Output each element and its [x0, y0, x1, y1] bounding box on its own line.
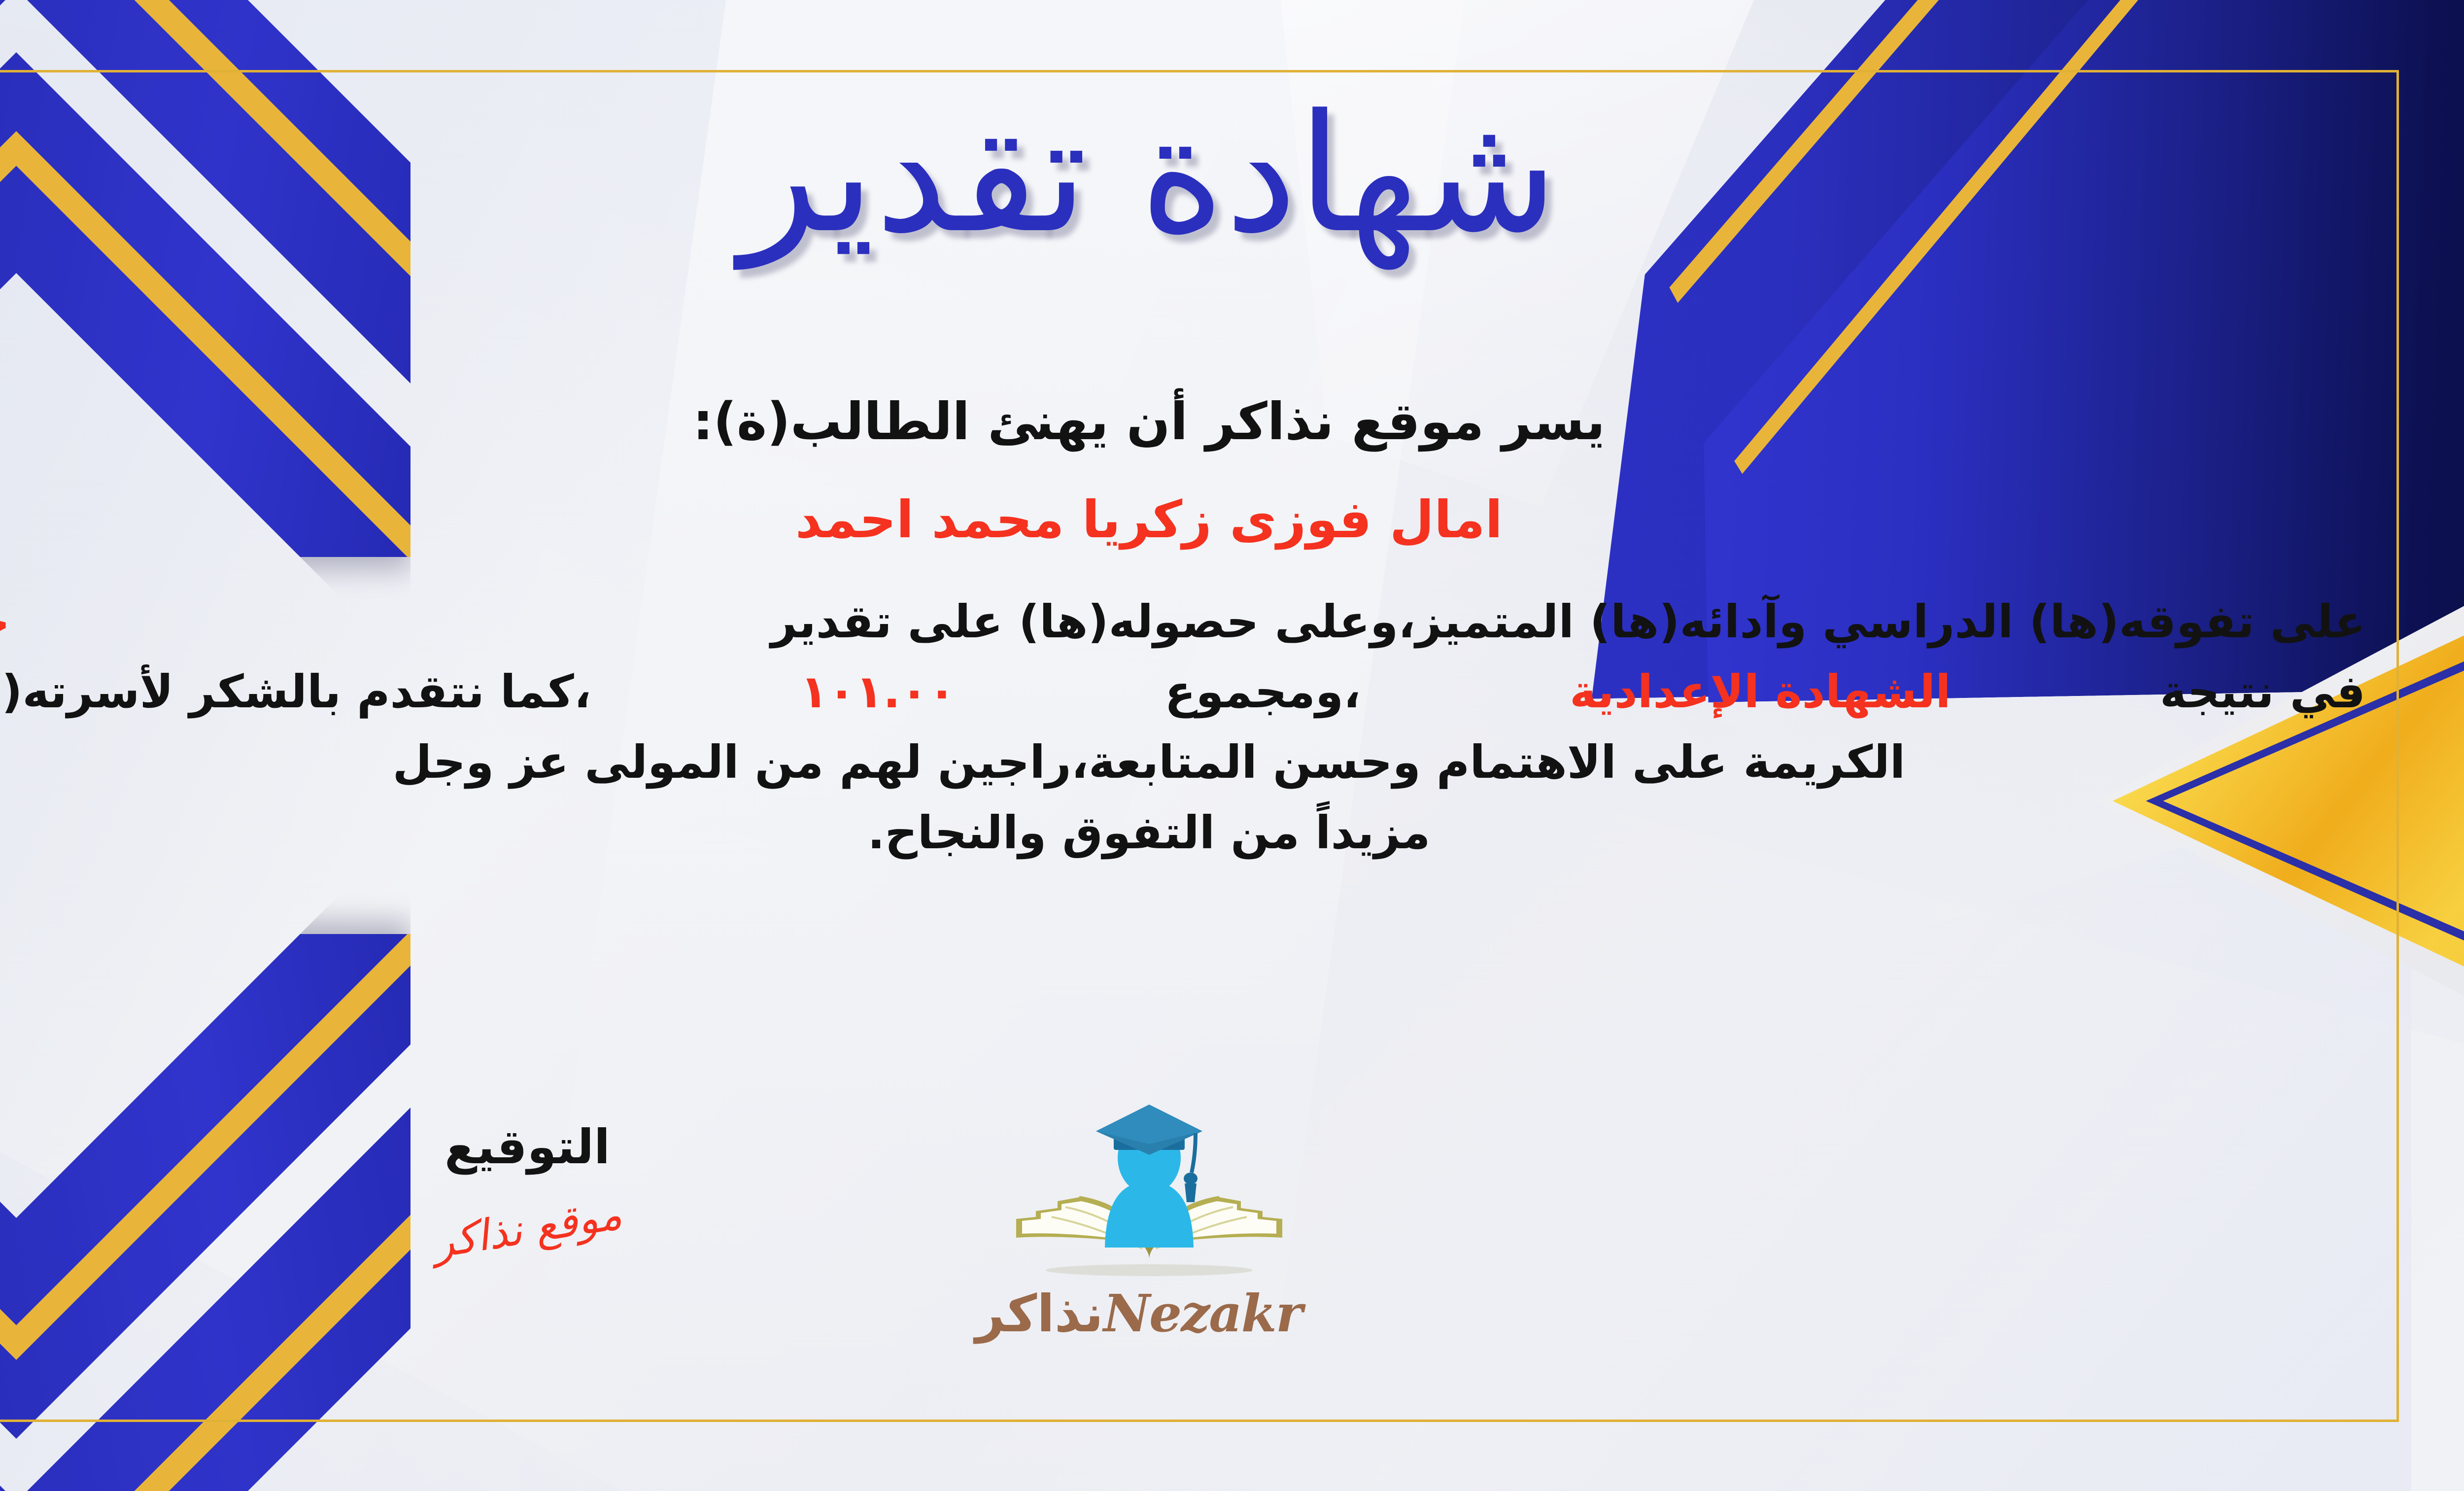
thanks-text: ،كما نتقدم بالشكر لأسرته(ها): [0, 657, 591, 728]
achievement-text: على تفوقه(ها) الدراسي وآدائه(ها) المتميز…: [771, 587, 2365, 658]
graduate-open-book-icon: [996, 1097, 1302, 1294]
brand-logo: Nezakrنذاكر: [996, 1097, 1302, 1339]
result-prefix: في نتيجة: [2160, 657, 2365, 728]
certificate-footer: التوقيع موقع نذاكر: [0, 1092, 2395, 1397]
congratulation-lead-text: يسر موقع نذاكر أن يهنئ الطالب(ة):: [0, 389, 2365, 453]
grade-value: جيد: [0, 587, 10, 658]
paragraph-line-2: في نتيجة الشهادة الإعدادية ،ومجموع ١٠١.٠…: [0, 657, 2365, 728]
certificate-page: شهادة تقدير يسر موقع نذاكر أن يهنئ الطال…: [0, 0, 2464, 1491]
exam-name: الشهادة الإعدادية: [1570, 657, 1951, 728]
paragraph-line-1: على تفوقه(ها) الدراسي وآدائه(ها) المتميز…: [0, 587, 2365, 658]
certificate-paragraph: على تفوقه(ها) الدراسي وآدائه(ها) المتميز…: [0, 587, 2365, 868]
paragraph-line-4: مزيداً من التفوق والنجاح.: [0, 798, 2365, 868]
total-prefix: ،ومجموع: [1165, 657, 1361, 728]
signature-label: التوقيع: [350, 1121, 705, 1174]
total-score: ١٠١.٠٠: [800, 657, 956, 728]
brand-logo-text: Nezakrنذاكر: [996, 1288, 1302, 1339]
signature-mark: موقع نذاكر: [430, 1189, 625, 1268]
paragraph-line-3: الكريمة على الاهتمام وحسن المتابعة،راجين…: [0, 728, 2365, 798]
certificate-body: يسر موقع نذاكر أن يهنئ الطالب(ة): امال ف…: [0, 389, 2365, 868]
certificate-content: شهادة تقدير يسر موقع نذاكر أن يهنئ الطال…: [0, 74, 2395, 1417]
certificate-title: شهادة تقدير: [0, 89, 2395, 260]
student-name: امال فوزى زكريا محمد احمد: [0, 489, 2365, 551]
signature-block: التوقيع موقع نذاكر: [350, 1121, 705, 1253]
